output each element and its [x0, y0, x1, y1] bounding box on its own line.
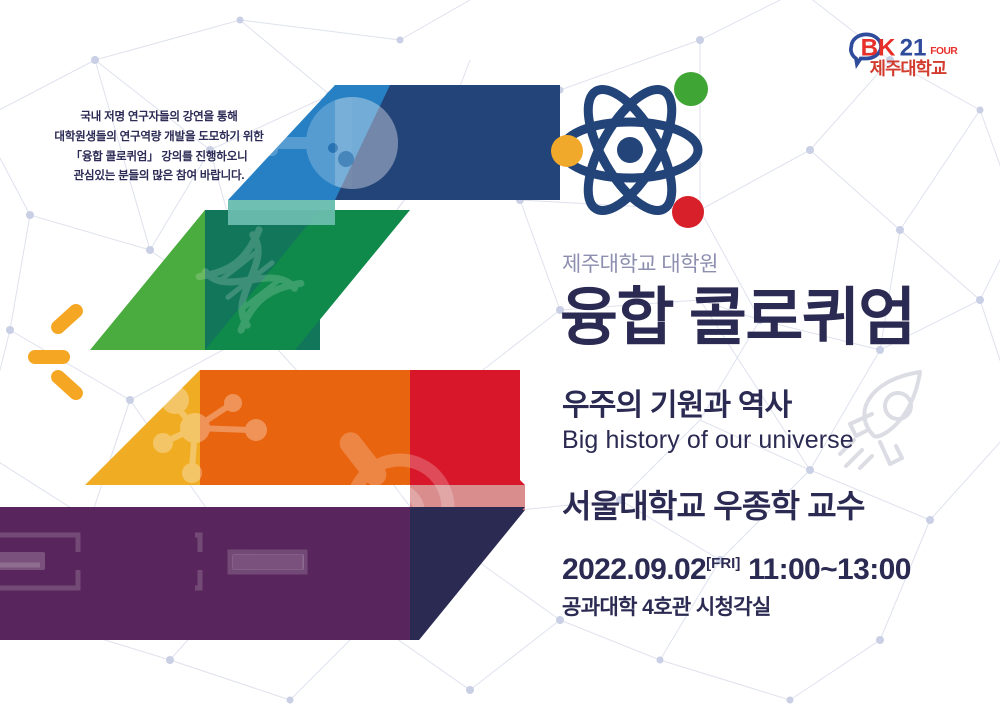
speaker-name: 서울대학교 우종학 교수: [562, 481, 990, 527]
atom-electron-amber: [551, 135, 583, 167]
event-day-of-week: [FRI]: [706, 555, 740, 572]
event-time: 11:00~13:00: [748, 553, 911, 586]
atom-electron-green: [674, 72, 708, 106]
atom-icon: [540, 62, 720, 232]
logo-university-text: 제주대학교: [870, 57, 947, 78]
iso-block-green: [90, 200, 410, 350]
intro-paragraph: 국내 저명 연구자들의 강연을 통해 대학원생들의 연구역량 개발을 도모하기 …: [14, 108, 304, 187]
intro-line-4: 관심있는 분들의 많은 참여 바랍니다.: [14, 167, 304, 187]
subtitle-english: Big history of our universe: [562, 426, 990, 455]
atom-electron-red: [672, 196, 704, 228]
main-text-column: 제주대학교 대학원 융합 콜로퀴엄 우주의 기원과 역사 Big history…: [560, 248, 990, 621]
event-date: 2022.09.02: [562, 553, 706, 586]
poster-root: BK 21 FOUR 제주대학교 국내 저명 연구자들의 강연을 통해 대학원생…: [0, 0, 1000, 707]
iso-block-purple: [0, 507, 525, 640]
intro-line-1: 국내 저명 연구자들의 강연을 통해: [14, 108, 304, 128]
eyebrow-text: 제주대학교 대학원: [562, 248, 990, 278]
intro-line-3: 「융합 콜로퀴엄」 강의를 진행하오니: [14, 148, 304, 168]
logo-four-text: FOUR: [930, 46, 958, 57]
intro-line-2: 대학원생들의 연구역량 개발을 도모하기 위한: [14, 128, 304, 148]
bk21-logo: BK 21 FOUR 제주대학교: [838, 26, 978, 78]
subtitle-korean: 우주의 기원과 역사: [562, 380, 990, 424]
page-title: 융합 콜로퀴엄: [560, 284, 990, 352]
event-venue: 공과대학 4호관 시청각실: [562, 591, 990, 621]
spark-icon: [28, 301, 86, 403]
event-datetime: 2022.09.02[FRI] 11:00~13:00: [562, 553, 990, 587]
